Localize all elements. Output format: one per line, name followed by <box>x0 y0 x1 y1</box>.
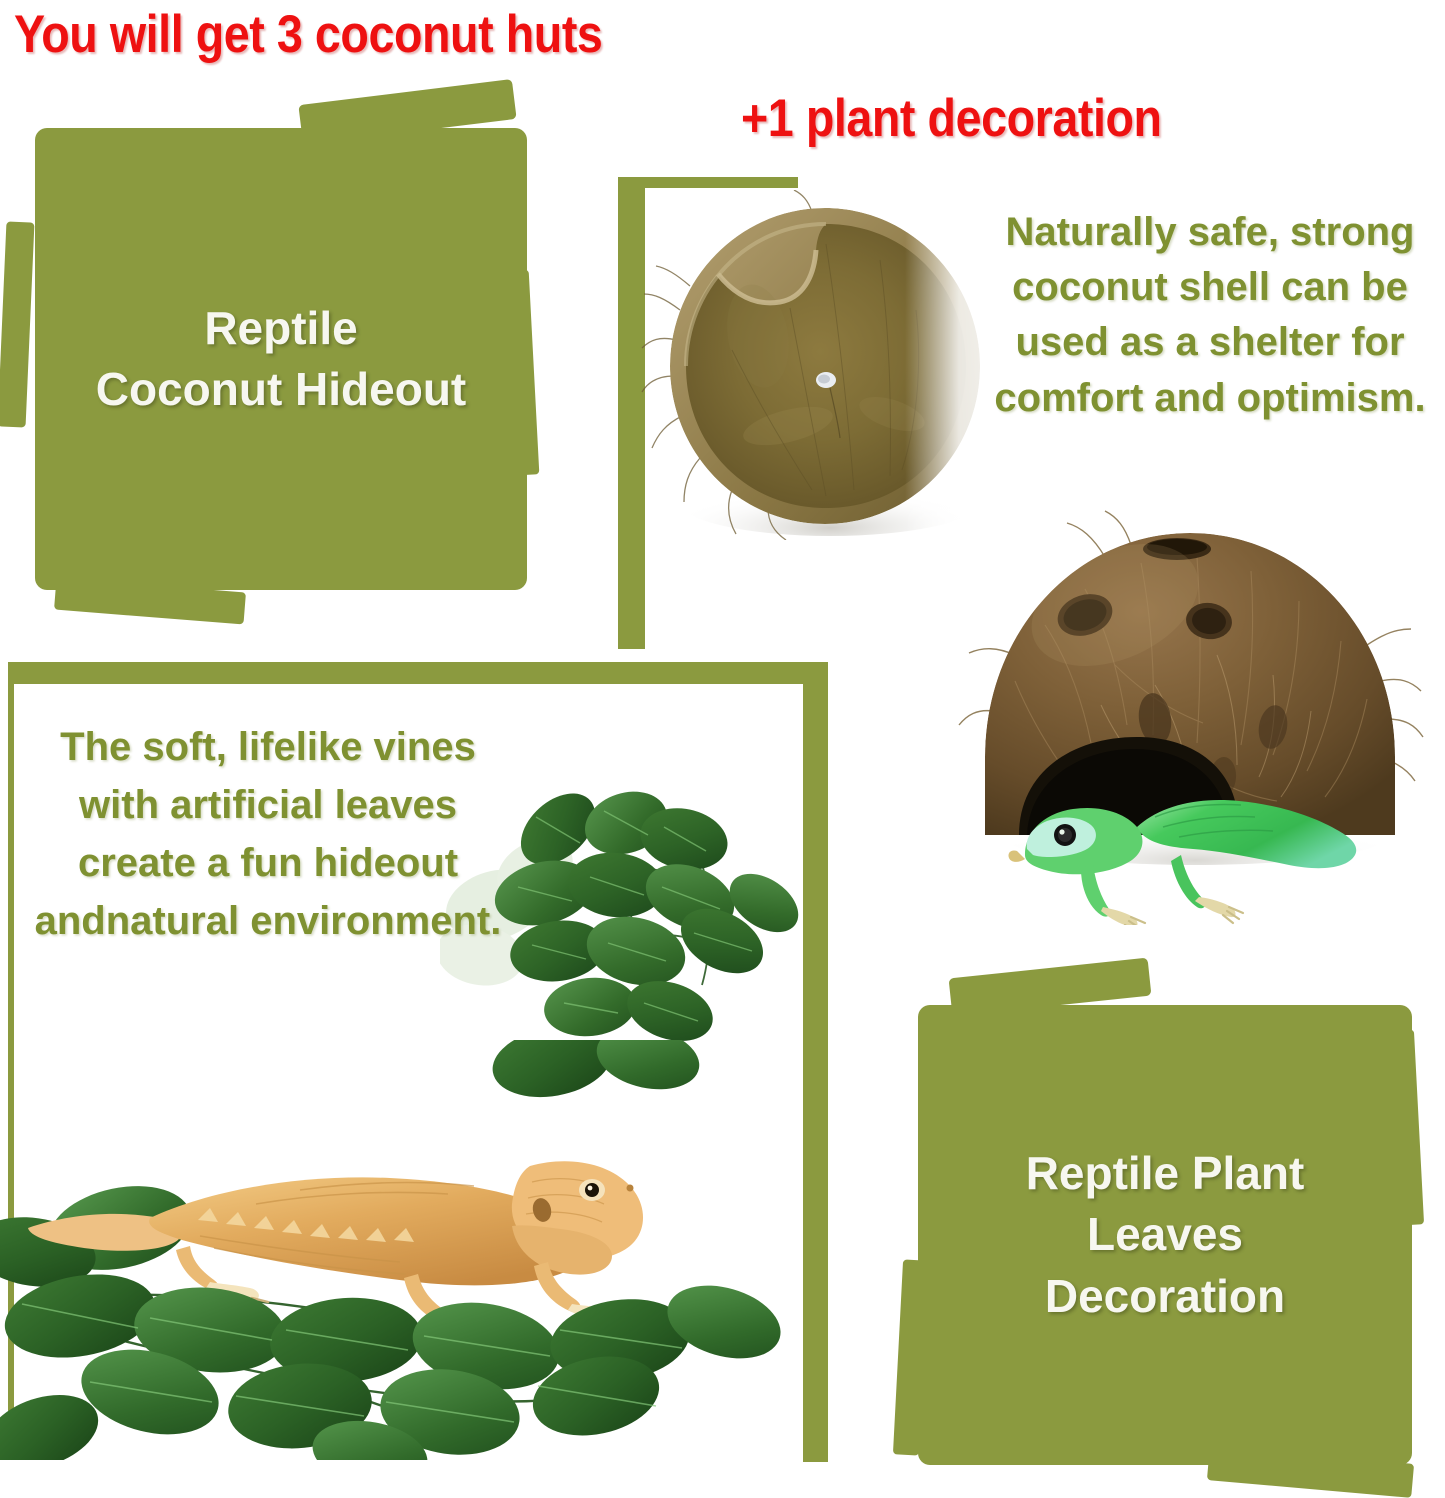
frame-rail-top-top-right-panel <box>618 177 798 188</box>
card-title-line-2: Leaves <box>1026 1204 1305 1265</box>
frame-rail-right-bottom-left-panel <box>803 662 828 1462</box>
card-title-line-3: Decoration <box>1026 1266 1305 1327</box>
headline-line-2: +1 plant decoration <box>741 92 1162 146</box>
card-coconut-hideout: Reptile Coconut Hideout <box>35 128 527 590</box>
description-vines: The soft, lifelike vines with artificial… <box>22 718 514 950</box>
frame-rail-top-bottom-left-panel <box>8 662 828 684</box>
card-title-line-1: Reptile Plant <box>1026 1143 1305 1204</box>
card-plant-leaves-decoration: Reptile Plant Leaves Decoration <box>918 1005 1412 1465</box>
description-coconut-shell: Naturally safe, strong coconut shell can… <box>986 205 1434 426</box>
card-plant-leaves-title: Reptile Plant Leaves Decoration <box>1026 1143 1305 1327</box>
headline-line-1: You will get 3 coconut huts <box>14 8 602 62</box>
card-shadow-piece <box>0 221 34 427</box>
coconut-shell-bowl-photo <box>640 190 1010 540</box>
card-title-line-1: Reptile <box>96 298 467 359</box>
bearded-dragon-on-leaves-photo <box>0 1040 805 1460</box>
coconut-dome-hut-photo <box>955 505 1425 925</box>
infographic-canvas: You will get 3 coconut huts +1 plant dec… <box>0 0 1445 1491</box>
card-title-line-2: Coconut Hideout <box>96 359 467 420</box>
green-lizard-photo <box>1008 800 1356 925</box>
card-coconut-hideout-title: Reptile Coconut Hideout <box>96 298 467 419</box>
